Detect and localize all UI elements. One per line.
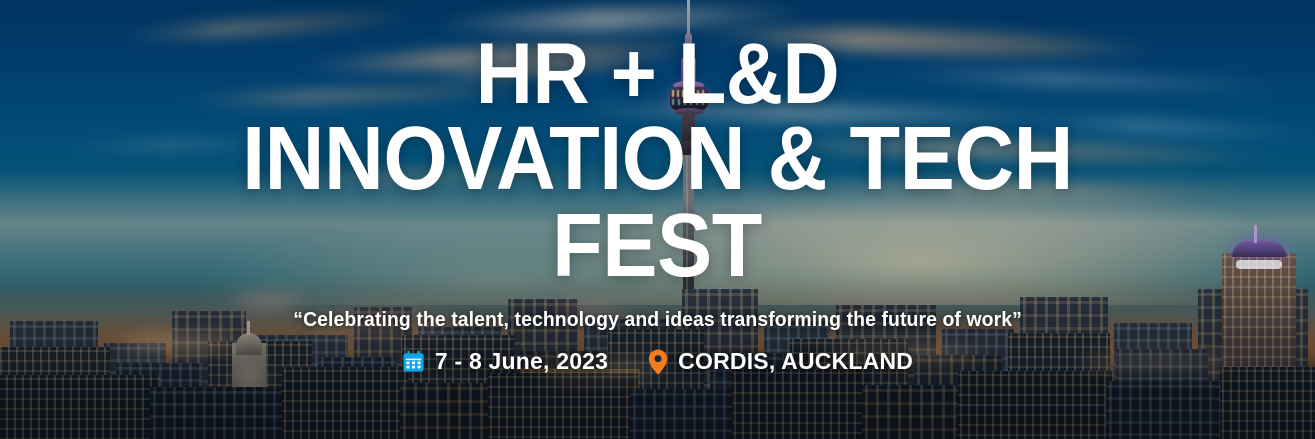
event-date-group: 7 - 8 June, 2023 xyxy=(402,348,608,375)
event-venue-text: CORDIS, AUCKLAND xyxy=(678,348,913,375)
event-tagline: “Celebrating the talent, technology and … xyxy=(293,309,1022,332)
event-title-line-1: HR + L&D xyxy=(476,36,839,113)
calendar-icon xyxy=(402,350,425,373)
event-title-line-2: INNOVATION & TECH xyxy=(242,119,1073,200)
map-pin-icon xyxy=(648,349,668,375)
event-title-line-3: FEST xyxy=(553,206,763,287)
event-meta-row: 7 - 8 June, 2023 CORDIS, AUCKLAND xyxy=(402,348,913,375)
event-date-text: 7 - 8 June, 2023 xyxy=(435,348,608,375)
event-hero-banner: HR + L&D INNOVATION & TECH FEST “Celebra… xyxy=(0,0,1315,439)
event-venue-group: CORDIS, AUCKLAND xyxy=(648,348,913,375)
banner-content: HR + L&D INNOVATION & TECH FEST “Celebra… xyxy=(0,0,1315,439)
